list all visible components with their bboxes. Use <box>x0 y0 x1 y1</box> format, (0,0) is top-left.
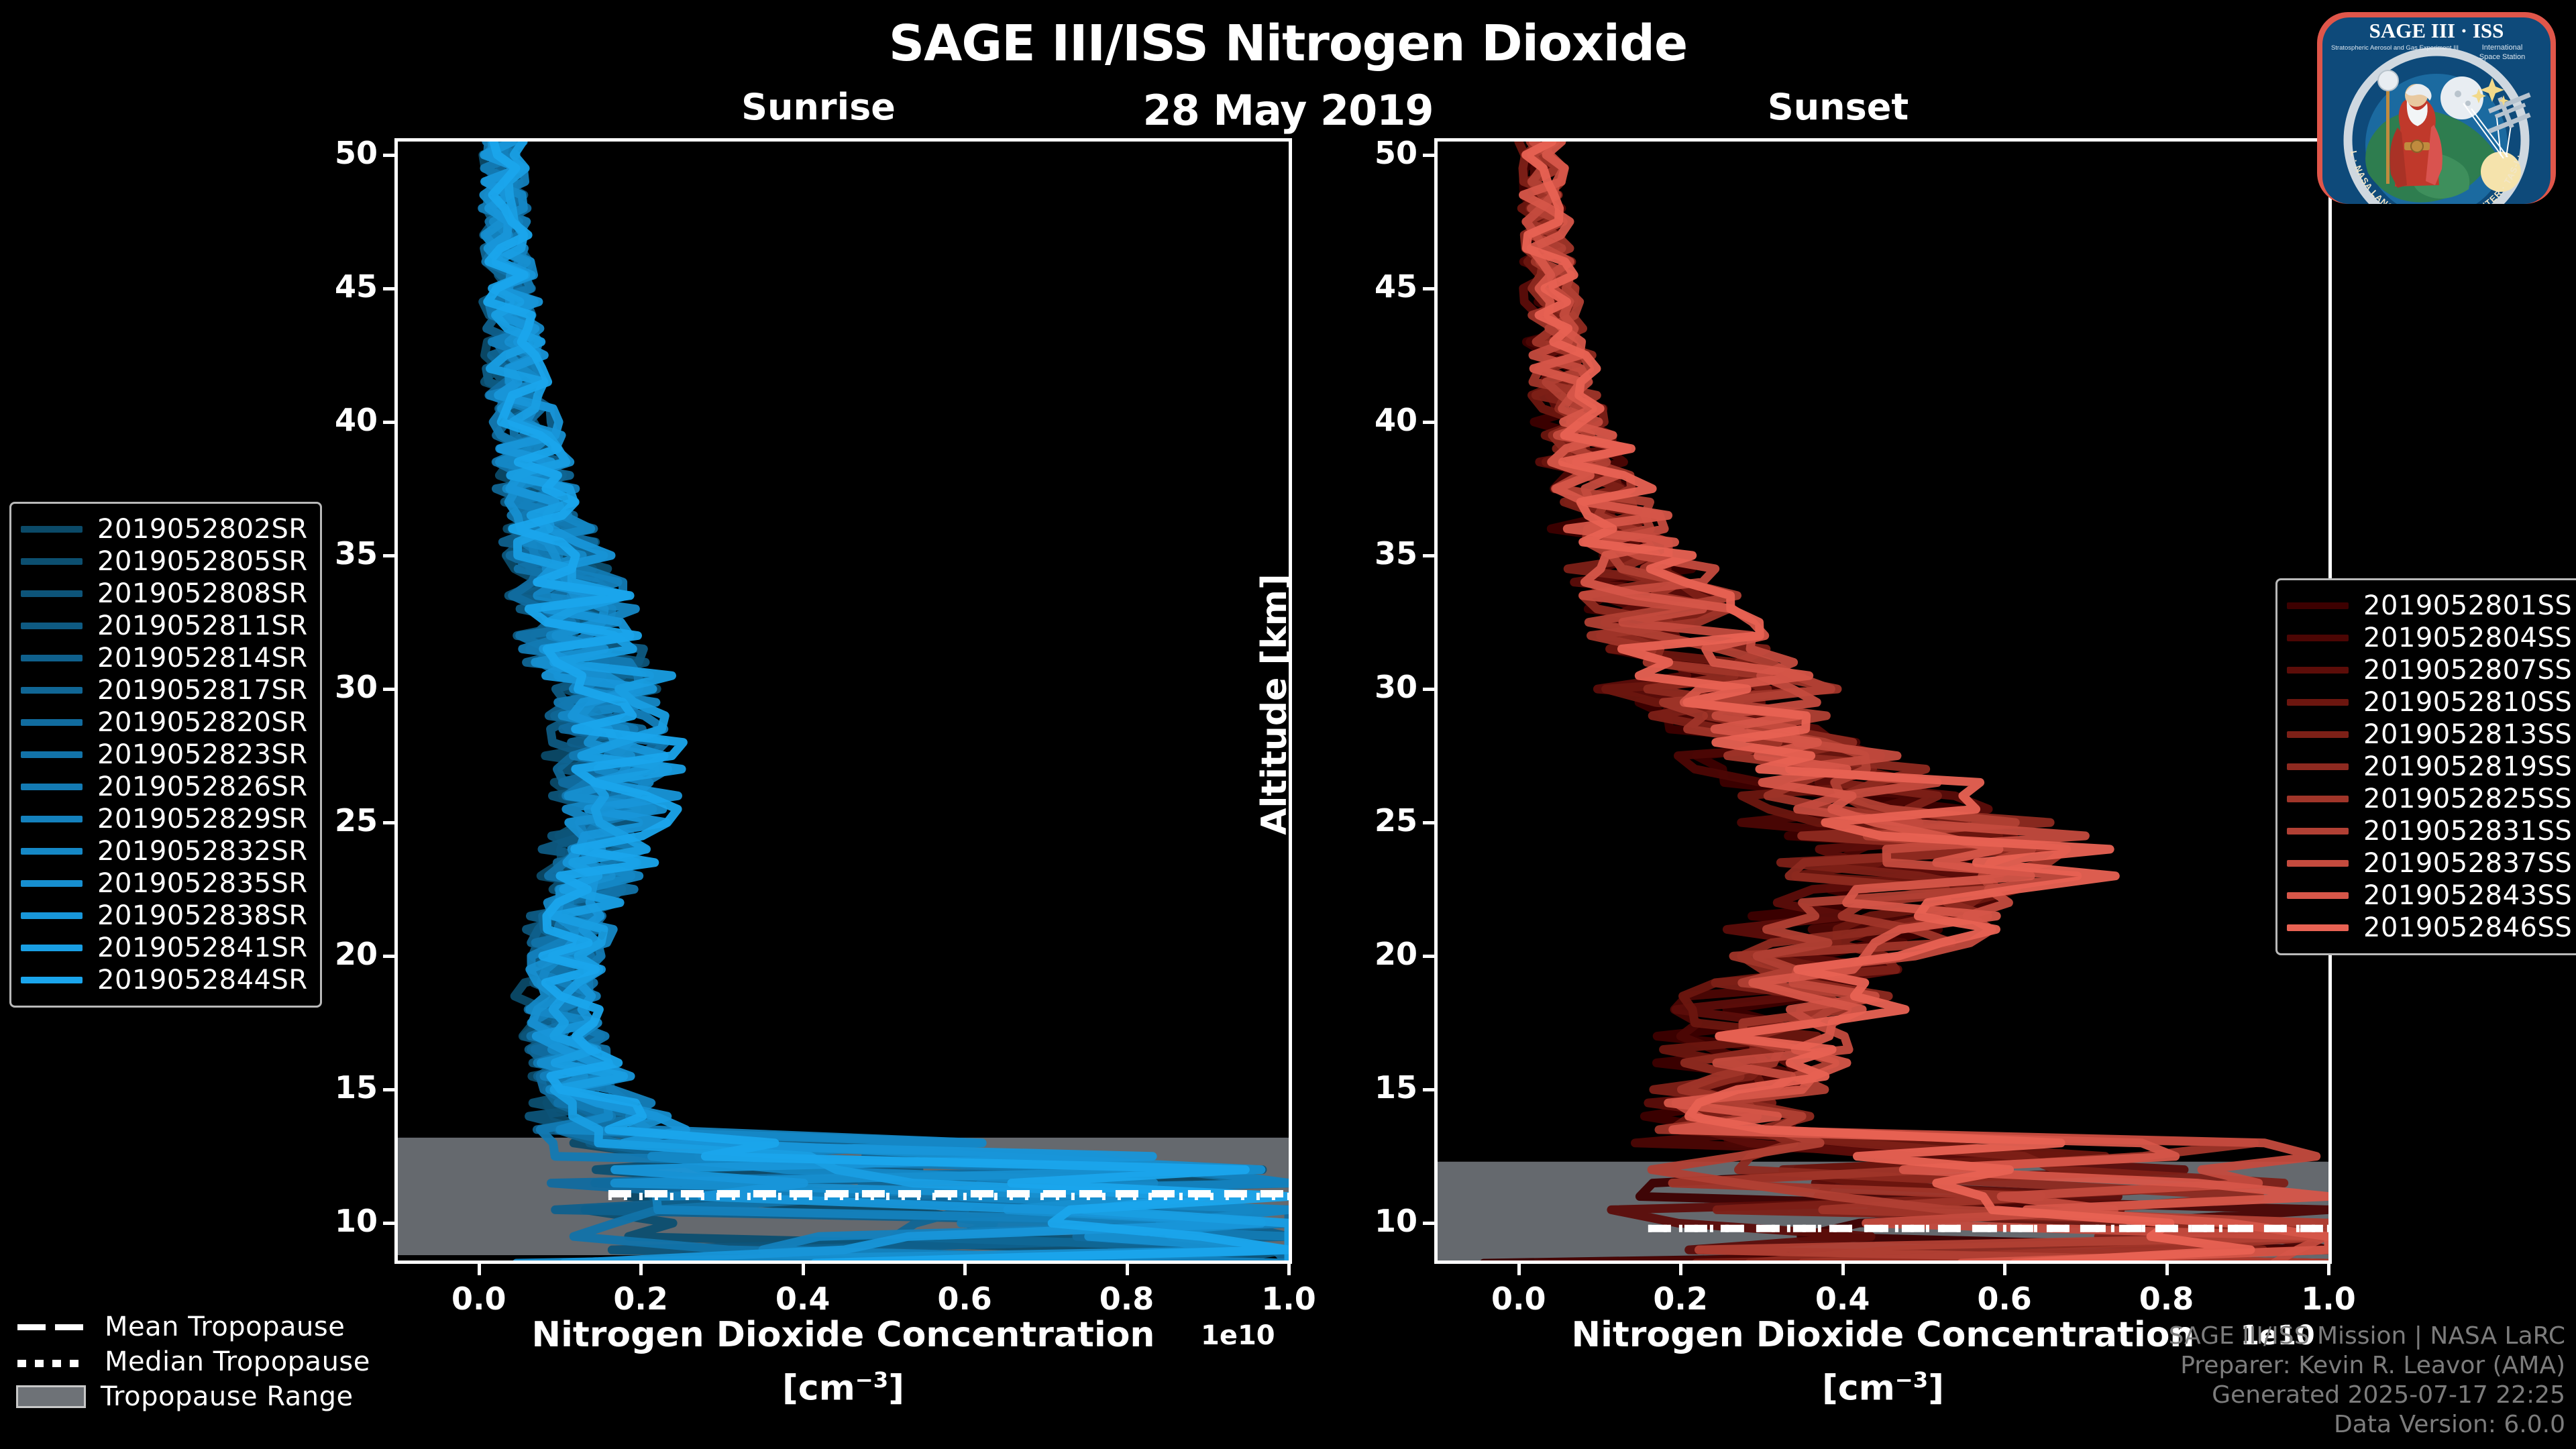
y-tick-label: 25 <box>1310 802 1417 839</box>
page-title: SAGE III/ISS Nitrogen Dioxide <box>0 15 2576 72</box>
legend-item-sunrise-row[interactable]: 2019052844SR <box>21 964 308 996</box>
y-tick-mark <box>383 688 398 691</box>
y-tick-mark <box>383 154 398 157</box>
filled-band-icon <box>16 1385 86 1408</box>
y-tick-label: 45 <box>270 268 378 305</box>
x-axis-label-sunrise-line1: Nitrogen Dioxide Concentration <box>394 1315 1292 1355</box>
line-swatch-icon <box>21 526 83 533</box>
legend-item-sunrise-label: 2019052811SR <box>97 610 308 641</box>
line-swatch-icon <box>21 880 83 887</box>
legend-sunrise[interactable]: 2019052802SR2019052805SR2019052808SR2019… <box>9 502 322 1008</box>
legend-item-sunrise-row[interactable]: 2019052829SR <box>21 803 308 835</box>
x-tick-mark <box>1517 1260 1521 1275</box>
y-tick-label: 10 <box>270 1203 378 1239</box>
legend-item-sunset-label: 2019052813SS <box>2363 719 2572 750</box>
legend-sunset[interactable]: 2019052801SS2019052804SS2019052807SS2019… <box>2275 578 2576 955</box>
legend-item-sunrise-label: 2019052838SR <box>97 900 308 931</box>
legend-item-sunrise-row[interactable]: 2019052841SR <box>21 932 308 964</box>
credits-line-generated: Generated 2025-07-17 22:25 <box>2169 1381 2565 1410</box>
x-tick-mark <box>2165 1260 2169 1275</box>
x-tick-label: 0.0 <box>419 1281 539 1317</box>
x-tick-mark <box>1841 1260 1845 1275</box>
panel-title-sunrise: Sunrise <box>671 86 966 128</box>
legend-item-sunset-label: 2019052807SS <box>2363 655 2572 686</box>
legend-item-sunrise-label: 2019052826SR <box>97 771 308 802</box>
y-tick-mark <box>1423 1222 1438 1225</box>
line-swatch-icon <box>21 751 83 758</box>
legend-item-sunset-row[interactable]: 2019052804SS <box>2287 622 2572 654</box>
y-tick-mark <box>1423 421 1438 424</box>
legend-item-sunrise-row[interactable]: 2019052811SR <box>21 610 308 642</box>
line-swatch-icon <box>21 623 83 629</box>
sunset-profiles-svg <box>1438 142 2328 1260</box>
legend-item-sunrise-row[interactable]: 2019052802SR <box>21 513 308 545</box>
line-swatch-icon <box>2287 763 2349 770</box>
figure-date-subtitle: 28 May 2019 <box>0 86 2576 135</box>
x-tick-label: 1.0 <box>1228 1281 1349 1317</box>
legend-item-sunset-row[interactable]: 2019052831SS <box>2287 815 2572 847</box>
legend-item-sunset-label: 2019052831SS <box>2363 816 2572 847</box>
x-tick-label: 1.0 <box>2268 1281 2389 1317</box>
legend-item-sunset-label: 2019052801SS <box>2363 590 2572 621</box>
legend-item-sunset-row[interactable]: 2019052801SS <box>2287 590 2572 622</box>
legend-row-mean-tropopause[interactable]: Mean Tropopause <box>16 1309 370 1344</box>
legend-item-sunset-row[interactable]: 2019052813SS <box>2287 718 2572 751</box>
y-tick-mark <box>383 1222 398 1225</box>
x-tick-label: 0.8 <box>1067 1281 1187 1317</box>
line-swatch-icon <box>21 945 83 951</box>
credits-line-preparer: Preparer: Kevin R. Leavor (AMA) <box>2169 1351 2565 1381</box>
y-tick-label: 50 <box>270 135 378 171</box>
y-tick-mark <box>383 554 398 557</box>
legend-item-sunrise-label: 2019052817SR <box>97 675 308 706</box>
legend-tropopause[interactable]: Mean Tropopause Median Tropopause Tropop… <box>16 1309 370 1414</box>
legend-item-sunset-row[interactable]: 2019052837SS <box>2287 847 2572 879</box>
line-swatch-icon <box>2287 860 2349 867</box>
legend-item-sunrise-row[interactable]: 2019052823SR <box>21 739 308 771</box>
y-tick-mark <box>1423 821 1438 824</box>
x-tick-mark <box>963 1260 967 1275</box>
y-tick-label: 20 <box>1310 936 1417 972</box>
x-tick-mark <box>802 1260 805 1275</box>
x-tick-label: 0.8 <box>2106 1281 2227 1317</box>
x-tick-mark <box>2003 1260 2006 1275</box>
plot-area-sunset[interactable] <box>1434 138 2332 1264</box>
line-swatch-icon <box>21 558 83 565</box>
y-tick-mark <box>383 421 398 424</box>
line-swatch-icon <box>2287 699 2349 706</box>
x-tick-mark <box>478 1260 481 1275</box>
line-swatch-icon <box>21 784 83 790</box>
line-swatch-icon <box>21 977 83 983</box>
legend-item-sunrise-label: 2019052805SR <box>97 546 308 577</box>
legend-item-sunrise-label: 2019052835SR <box>97 868 308 899</box>
line-swatch-icon <box>21 719 83 726</box>
legend-item-sunrise-label: 2019052829SR <box>97 804 308 835</box>
legend-label-tropopause-range: Tropopause Range <box>101 1381 354 1412</box>
y-tick-label: 40 <box>270 402 378 438</box>
y-axis-label-sunset: Altitude [km] <box>1254 570 1295 839</box>
y-tick-label: 15 <box>1310 1069 1417 1106</box>
y-tick-label: 45 <box>1310 268 1417 305</box>
y-tick-label: 40 <box>1310 402 1417 438</box>
legend-item-sunset-row[interactable]: 2019052819SS <box>2287 751 2572 783</box>
legend-item-sunset-label: 2019052837SS <box>2363 848 2572 879</box>
x-tick-label: 0.0 <box>1458 1281 1579 1317</box>
line-swatch-icon <box>2287 828 2349 835</box>
legend-item-sunrise-label: 2019052844SR <box>97 965 308 996</box>
x-tick-mark <box>1126 1260 1129 1275</box>
legend-item-sunset-label: 2019052843SS <box>2363 880 2572 911</box>
legend-row-median-tropopause[interactable]: Median Tropopause <box>16 1344 370 1379</box>
x-tick-mark <box>639 1260 643 1275</box>
legend-item-sunrise-row[interactable]: 2019052817SR <box>21 674 308 706</box>
y-tick-label: 10 <box>1310 1203 1417 1239</box>
legend-item-sunrise-row[interactable]: 2019052835SR <box>21 867 308 900</box>
dashed-line-icon <box>16 1317 90 1337</box>
credits-line-mission: SAGE III/ISS Mission | NASA LaRC <box>2169 1322 2565 1351</box>
legend-item-sunrise-row[interactable]: 2019052838SR <box>21 900 308 932</box>
legend-item-sunset-row[interactable]: 2019052810SS <box>2287 686 2572 718</box>
legend-item-sunset-row[interactable]: 2019052846SS <box>2287 912 2572 944</box>
y-tick-mark <box>383 955 398 958</box>
line-swatch-icon <box>2287 796 2349 802</box>
x-tick-label: 0.4 <box>743 1281 863 1317</box>
x-tick-label: 0.6 <box>904 1281 1025 1317</box>
legend-item-sunset-label: 2019052819SS <box>2363 751 2572 782</box>
legend-item-sunrise-label: 2019052823SR <box>97 739 308 770</box>
y-tick-mark <box>383 287 398 290</box>
legend-item-sunset-row[interactable]: 2019052843SS <box>2287 879 2572 912</box>
line-swatch-icon <box>2287 892 2349 899</box>
line-swatch-icon <box>21 687 83 694</box>
legend-item-sunset-row[interactable]: 2019052825SS <box>2287 783 2572 815</box>
legend-item-sunrise-row[interactable]: 2019052826SR <box>21 771 308 803</box>
legend-label-median-tropopause: Median Tropopause <box>105 1346 370 1377</box>
legend-label-mean-tropopause: Mean Tropopause <box>105 1311 345 1342</box>
line-swatch-icon <box>21 912 83 919</box>
x-tick-label: 0.4 <box>1782 1281 1903 1317</box>
x-tick-label: 0.6 <box>1944 1281 2065 1317</box>
y-tick-label: 35 <box>1310 535 1417 572</box>
x-axis-label-sunrise-line2: [cm−3] <box>394 1367 1292 1408</box>
legend-item-sunset-row[interactable]: 2019052807SS <box>2287 654 2572 686</box>
y-tick-mark <box>1423 955 1438 958</box>
y-tick-label: 30 <box>1310 669 1417 705</box>
sunrise-profiles-svg <box>398 142 1289 1260</box>
x-tick-mark <box>1287 1260 1291 1275</box>
legend-item-sunset-label: 2019052804SS <box>2363 623 2572 653</box>
y-tick-label: 50 <box>1310 135 1417 171</box>
credits-line-data-version: Data Version: 6.0.0 <box>2169 1410 2565 1440</box>
logo-subtitle-right-2: Space Station <box>2479 53 2526 61</box>
logo-subtitle-left: Stratospheric Aerosol and Gas Experiment… <box>2331 44 2459 52</box>
dotted-line-icon <box>16 1352 90 1372</box>
x-axis-exponent-sunrise: 1e10 <box>1201 1320 1275 1351</box>
profile-line <box>1484 142 2328 1260</box>
line-swatch-icon <box>21 848 83 855</box>
line-swatch-icon <box>2287 924 2349 931</box>
legend-item-sunrise-label: 2019052832SR <box>97 836 308 867</box>
y-tick-mark <box>1423 287 1438 290</box>
legend-item-sunrise-row[interactable]: 2019052820SR <box>21 706 308 739</box>
x-tick-mark <box>2327 1260 2330 1275</box>
y-tick-mark <box>1423 154 1438 157</box>
sage-iii-iss-mission-patch-logo: SAGE III · ISS Stratospheric Aerosol and… <box>2302 3 2571 204</box>
legend-item-sunset-label: 2019052810SS <box>2363 687 2572 718</box>
line-swatch-icon <box>2287 602 2349 609</box>
line-swatch-icon <box>2287 635 2349 641</box>
plot-area-sunrise[interactable] <box>394 138 1292 1264</box>
legend-item-sunrise-row[interactable]: 2019052832SR <box>21 835 308 867</box>
y-tick-label: 15 <box>270 1069 378 1106</box>
legend-item-sunrise-label: 2019052841SR <box>97 932 308 963</box>
legend-row-tropopause-range[interactable]: Tropopause Range <box>16 1379 370 1414</box>
profile-line <box>1519 142 2328 1260</box>
legend-item-sunrise-label: 2019052820SR <box>97 707 308 738</box>
legend-item-sunset-label: 2019052846SS <box>2363 912 2572 943</box>
logo-subtitle-right-1: International <box>2482 44 2523 52</box>
y-tick-mark <box>383 1088 398 1091</box>
x-tick-label: 0.2 <box>580 1281 701 1317</box>
y-tick-mark <box>1423 1088 1438 1091</box>
line-swatch-icon <box>21 816 83 822</box>
line-swatch-icon <box>2287 667 2349 674</box>
x-tick-label: 0.2 <box>1620 1281 1741 1317</box>
y-tick-mark <box>1423 688 1438 691</box>
x-tick-mark <box>1679 1260 1682 1275</box>
legend-item-sunrise-row[interactable]: 2019052808SR <box>21 578 308 610</box>
y-tick-mark <box>1423 554 1438 557</box>
line-swatch-icon <box>2287 731 2349 738</box>
legend-item-sunrise-row[interactable]: 2019052814SR <box>21 642 308 674</box>
figure-root: SAGE III/ISS Nitrogen Dioxide 28 May 201… <box>0 0 2576 1449</box>
legend-item-sunrise-row[interactable]: 2019052805SR <box>21 545 308 578</box>
line-swatch-icon <box>21 590 83 597</box>
legend-item-sunrise-label: 2019052814SR <box>97 643 308 674</box>
legend-item-sunset-label: 2019052825SS <box>2363 784 2572 814</box>
logo-title: SAGE III · ISS <box>2369 19 2504 42</box>
credits-block: SAGE III/ISS Mission | NASA LaRC Prepare… <box>2169 1322 2565 1440</box>
y-tick-mark <box>383 821 398 824</box>
legend-item-sunrise-label: 2019052802SR <box>97 514 308 545</box>
panel-title-sunset: Sunset <box>1690 86 1986 128</box>
legend-item-sunrise-label: 2019052808SR <box>97 578 308 609</box>
line-swatch-icon <box>21 655 83 661</box>
